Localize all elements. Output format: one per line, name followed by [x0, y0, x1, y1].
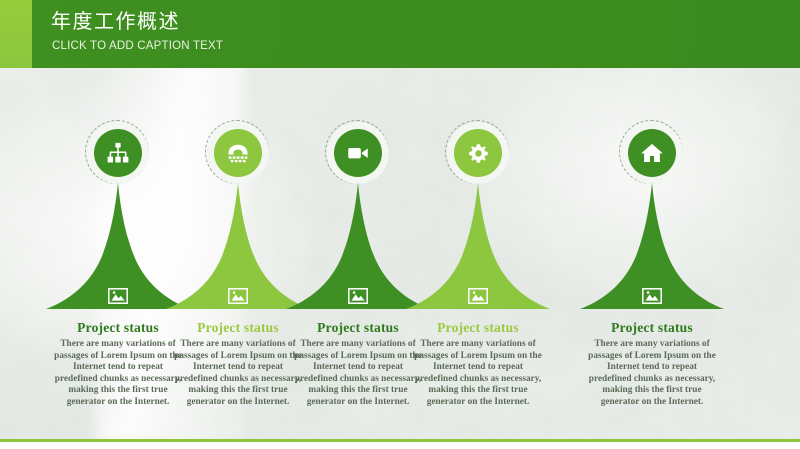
page-title: 年度工作概述 [51, 8, 180, 34]
image-placeholder-icon [107, 287, 129, 305]
telephone-icon [225, 140, 251, 166]
badge-disc [334, 129, 382, 177]
header-accent-strip [0, 0, 32, 68]
slide-canvas: 年度工作概述 CLICK TO ADD CAPTION TEXT [0, 0, 800, 449]
badge-disc [94, 129, 142, 177]
page-subtitle: CLICK TO ADD CAPTION TEXT [52, 40, 223, 52]
badge-disc [628, 129, 676, 177]
column-body-text: There are many variations of passages of… [411, 339, 545, 409]
badge-4[interactable] [445, 120, 511, 186]
badge-disc [454, 129, 502, 177]
slide-header: 年度工作概述 CLICK TO ADD CAPTION TEXT [0, 0, 800, 68]
spire-shape-5 [572, 182, 732, 312]
badge-5[interactable] [619, 120, 685, 186]
column-title: Project status [572, 320, 732, 336]
spire-shape-4 [398, 182, 558, 312]
badge-2[interactable] [205, 120, 271, 186]
bottom-margin [0, 442, 800, 449]
home-icon [639, 140, 665, 166]
column-5[interactable]: Project status There are many variations… [572, 120, 732, 409]
badge-1[interactable] [85, 120, 151, 186]
image-placeholder-icon [467, 287, 489, 305]
column-body-text: There are many variations of passages of… [585, 339, 719, 409]
column-4[interactable]: Project status There are many variations… [398, 120, 558, 409]
gear-icon [466, 141, 491, 166]
column-title: Project status [398, 320, 558, 336]
video-camera-icon [345, 140, 371, 166]
image-placeholder-icon [641, 287, 663, 305]
badge-disc [214, 129, 262, 177]
sitemap-icon [105, 140, 131, 166]
image-placeholder-icon [227, 287, 249, 305]
badge-3[interactable] [325, 120, 391, 186]
image-placeholder-icon [347, 287, 369, 305]
